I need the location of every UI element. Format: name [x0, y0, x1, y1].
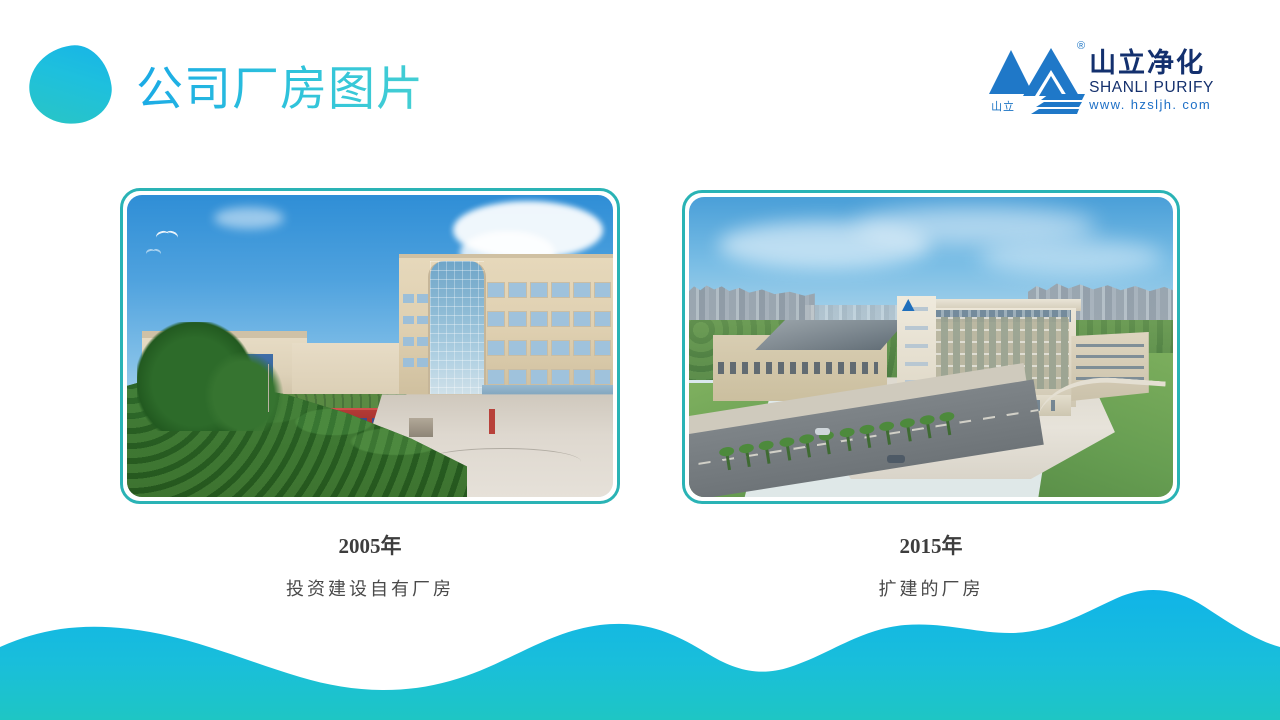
photo-image-2015 — [689, 197, 1173, 497]
logo-company-name-en: SHANLI PURIFY — [1089, 78, 1214, 97]
logo-website-url: www. hzsljh. com — [1089, 97, 1214, 113]
car — [815, 428, 830, 435]
bird-icon — [146, 249, 162, 259]
logo-mark-caption: 山立 — [991, 98, 1015, 114]
page-title: 公司厂房图片 — [136, 60, 424, 118]
bottom-wave-decoration — [0, 585, 1280, 720]
photo-image-2005 — [127, 195, 613, 497]
caption-year: 2005年 — [120, 533, 620, 559]
photo-frame-2015 — [682, 190, 1180, 504]
slide-root: 公司厂房图片 ® 山立 山立净化 SHANLI PURIFY www. hzsl… — [0, 0, 1280, 720]
window-grid — [484, 272, 610, 393]
photo-frame-2005 — [120, 188, 620, 504]
window-grid — [402, 289, 431, 386]
bird-icon — [156, 231, 180, 247]
caption-year: 2015年 — [682, 533, 1180, 559]
logo-company-name-cn: 山立净化 — [1089, 48, 1214, 78]
header-blob-decoration — [24, 41, 116, 130]
car — [887, 455, 904, 463]
shanli-mountain-icon: ® 山立 — [989, 38, 1085, 116]
logo-text-block: 山立净化 SHANLI PURIFY www. hzsljh. com — [1089, 38, 1214, 113]
company-logo: ® 山立 山立净化 SHANLI PURIFY www. hzsljh. com — [989, 38, 1214, 116]
registered-trademark-icon: ® — [1077, 40, 1085, 52]
